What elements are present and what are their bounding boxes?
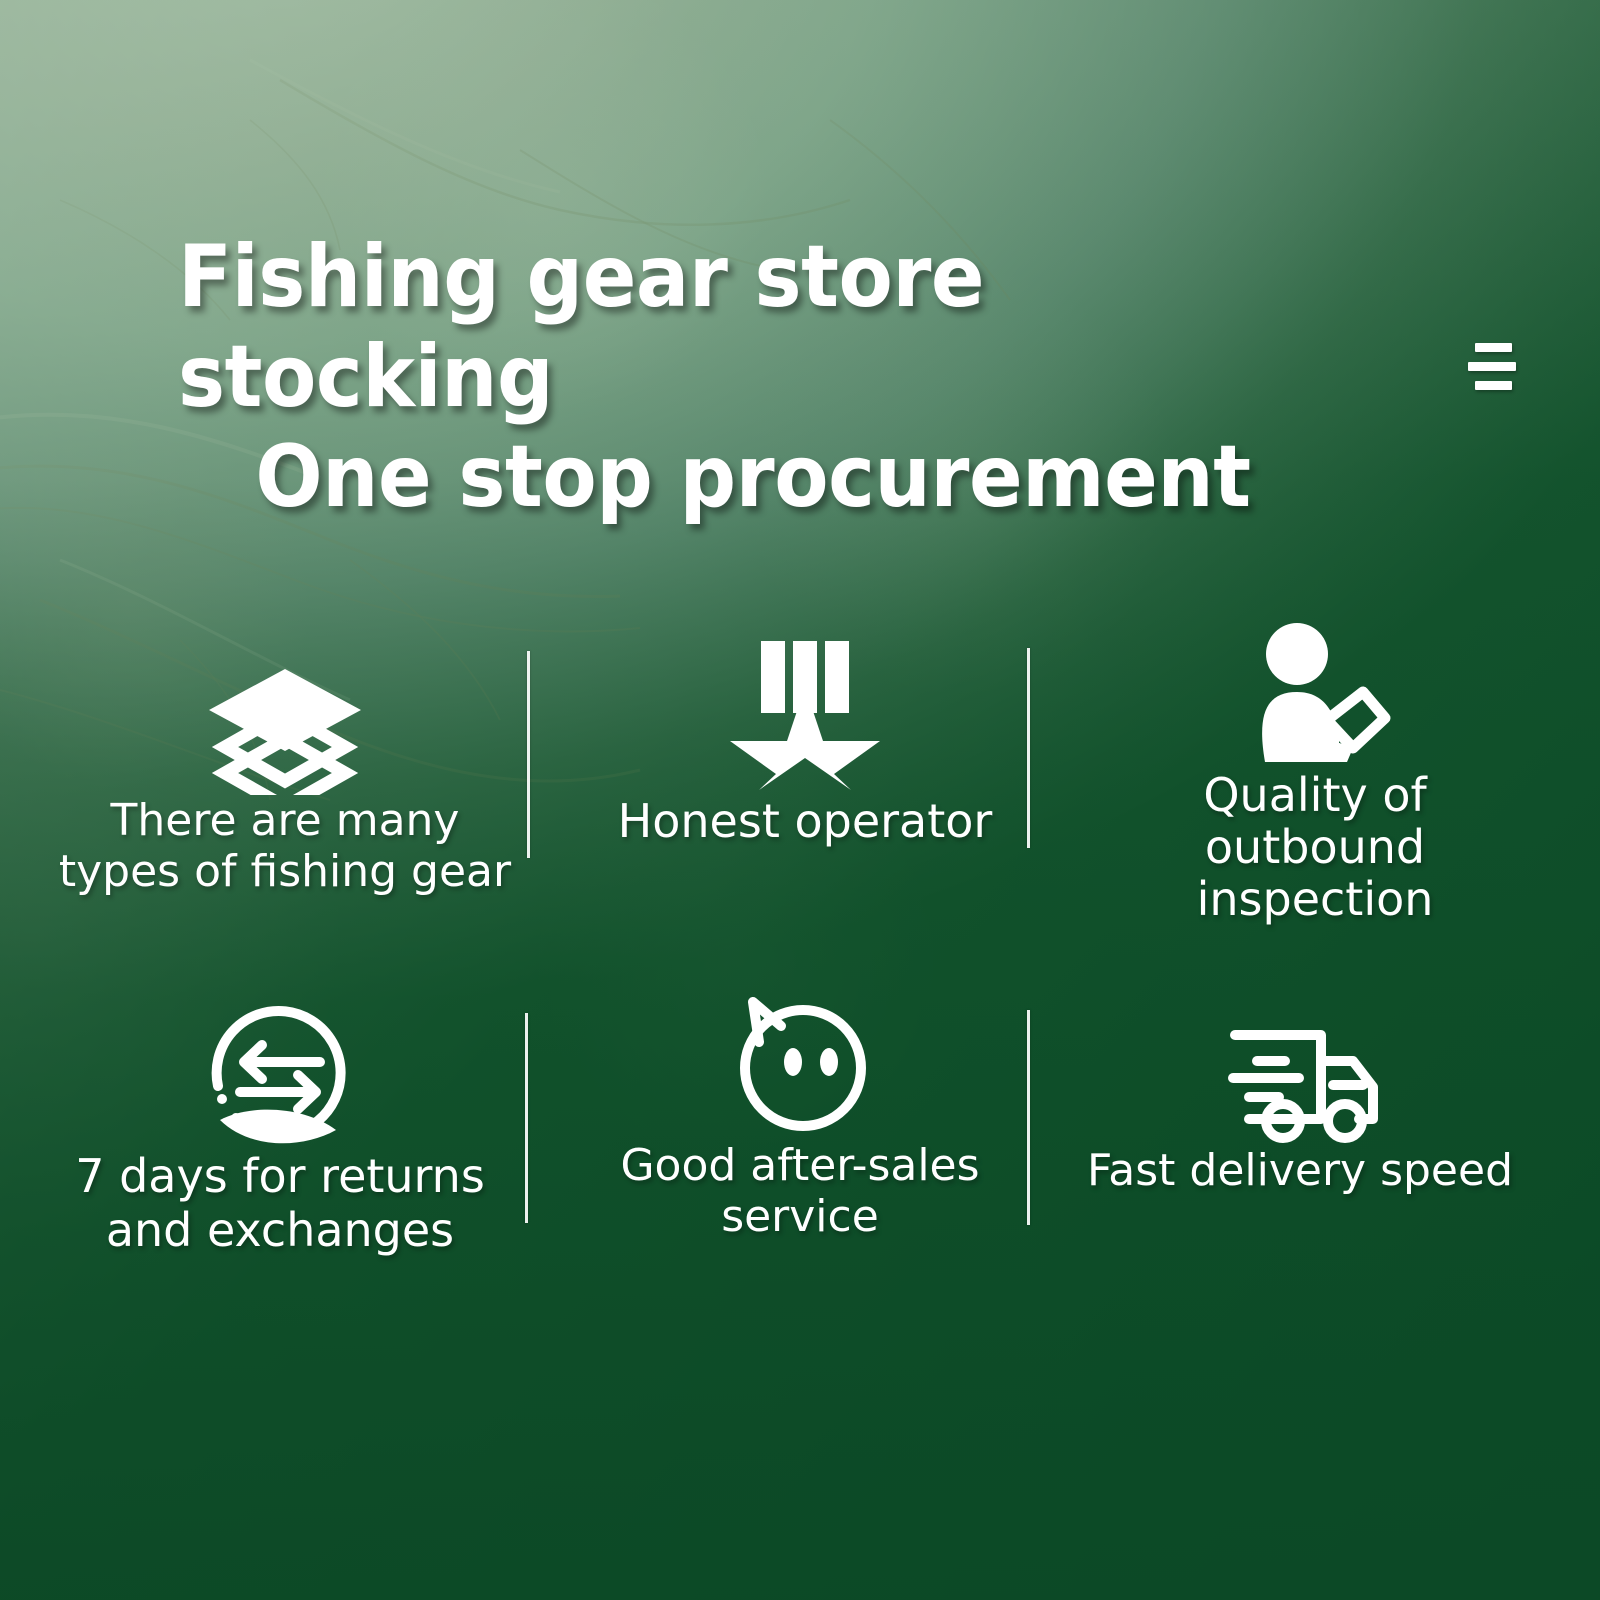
feature-label: Fast delivery speed: [1040, 1145, 1560, 1196]
feature-label: Honest operator: [545, 795, 1065, 849]
feature-label: Good after-sales service: [540, 1140, 1060, 1243]
exchange-arrows-circle-icon: [20, 975, 540, 1150]
feature-item-fast-delivery[interactable]: Fast delivery speed: [1040, 975, 1560, 1196]
menu-line-middle: [1468, 362, 1516, 371]
feature-label: 7 days for returns and exchanges: [20, 1150, 540, 1258]
menu-line-bottom: [1475, 381, 1512, 390]
page-title-line-2: One stop procurement: [178, 428, 1328, 528]
feature-label: There are many types of fishing gear: [25, 795, 545, 898]
page-title-line-1: Fishing gear store stocking: [178, 228, 1328, 428]
banner-canvas: Fishing gear store stocking One stop pro…: [0, 0, 1600, 1600]
delivery-truck-icon: [1040, 975, 1560, 1145]
inspector-with-clipboard-icon: [1055, 620, 1575, 770]
feature-item-after-sales[interactable]: Good after-sales service: [540, 965, 1060, 1243]
medal-star-icon: [545, 620, 1065, 795]
layers-icon: [25, 620, 545, 795]
page-title: Fishing gear store stocking One stop pro…: [178, 228, 1328, 527]
menu-lines-icon[interactable]: [1466, 338, 1528, 398]
smiley-face-icon: [540, 965, 1060, 1140]
feature-item-honest-operator[interactable]: Honest operator: [545, 620, 1065, 849]
feature-item-variety[interactable]: There are many types of fishing gear: [25, 620, 545, 898]
feature-grid: There are many types of fishing gear Hon…: [0, 600, 1600, 1340]
feature-item-outbound-inspection[interactable]: Quality of outbound inspection: [1055, 620, 1575, 926]
feature-label: Quality of outbound inspection: [1055, 770, 1575, 926]
menu-line-top: [1475, 343, 1512, 352]
feature-item-returns[interactable]: 7 days for returns and exchanges: [20, 975, 540, 1258]
